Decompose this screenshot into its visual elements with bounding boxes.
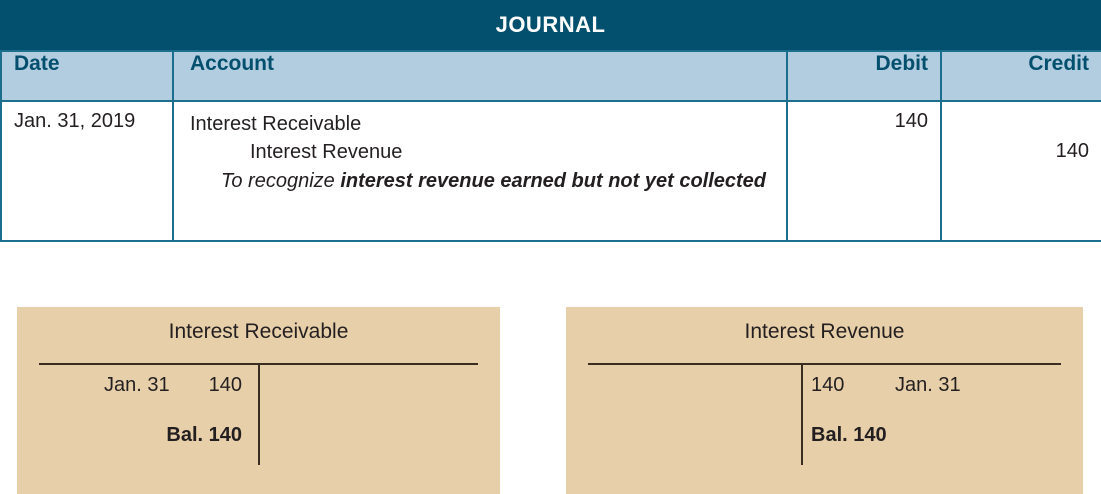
t-account-horizontal-rule xyxy=(588,363,1061,365)
entry-date: Jan. 31, 2019 xyxy=(1,101,173,241)
journal-header-row: Date Account Debit Credit xyxy=(1,51,1101,101)
entry-credit-amount: 140 xyxy=(941,101,1101,241)
t-account-entry: 140 Jan. 31 xyxy=(811,375,1061,395)
t-account-interest-receivable: Interest Receivable Jan. 31 140 Bal. 140 xyxy=(17,307,500,494)
journal-table: Date Account Debit Credit Jan. 31, 2019 … xyxy=(0,50,1101,242)
entry-debit-amount: 140 xyxy=(787,101,941,241)
t-account-entry-date: Jan. 31 xyxy=(104,375,186,395)
column-header-account: Account xyxy=(173,51,787,101)
t-account-entry-amount: 140 xyxy=(186,375,242,395)
t-account-chart: 140 Jan. 31 Bal. 140 xyxy=(588,363,1061,494)
t-account-vertical-divider xyxy=(801,363,803,465)
entry-memo-plain: To recognize xyxy=(221,170,340,192)
t-account-vertical-divider xyxy=(258,363,260,465)
entry-account-cell: Interest Receivable Interest Revenue To … xyxy=(173,101,787,241)
entry-debit-account: Interest Receivable xyxy=(190,110,774,138)
journal-entry-row: Jan. 31, 2019 Interest Receivable Intere… xyxy=(1,101,1101,241)
t-account-entry: Jan. 31 140 xyxy=(39,375,242,395)
t-account-entry-date: Jan. 31 xyxy=(895,375,977,395)
t-account-title: Interest Revenue xyxy=(566,307,1083,343)
t-account-chart: Jan. 31 140 Bal. 140 xyxy=(39,363,478,494)
column-header-date: Date xyxy=(1,51,173,101)
t-accounts-container: Interest Receivable Jan. 31 140 Bal. 140… xyxy=(0,307,1101,494)
column-header-credit: Credit xyxy=(941,51,1101,101)
entry-credit-account: Interest Revenue xyxy=(190,138,774,166)
t-account-interest-revenue: Interest Revenue 140 Jan. 31 Bal. 140 xyxy=(566,307,1083,494)
t-account-balance: Bal. 140 xyxy=(39,425,242,445)
t-account-debit-side: Jan. 31 140 Bal. 140 xyxy=(39,375,250,445)
entry-memo: To recognize interest revenue earned but… xyxy=(190,168,774,195)
entry-memo-emphasis: interest revenue earned but not yet coll… xyxy=(340,170,766,192)
journal-title: JOURNAL xyxy=(0,0,1101,50)
column-header-debit: Debit xyxy=(787,51,941,101)
journal-table-container: JOURNAL Date Account Debit Credit Jan. 3… xyxy=(0,0,1101,242)
t-account-entry-amount: 140 xyxy=(811,375,895,395)
t-account-balance: Bal. 140 xyxy=(811,425,1061,445)
t-account-title: Interest Receivable xyxy=(17,307,500,343)
t-account-credit-side: 140 Jan. 31 Bal. 140 xyxy=(811,375,1061,445)
